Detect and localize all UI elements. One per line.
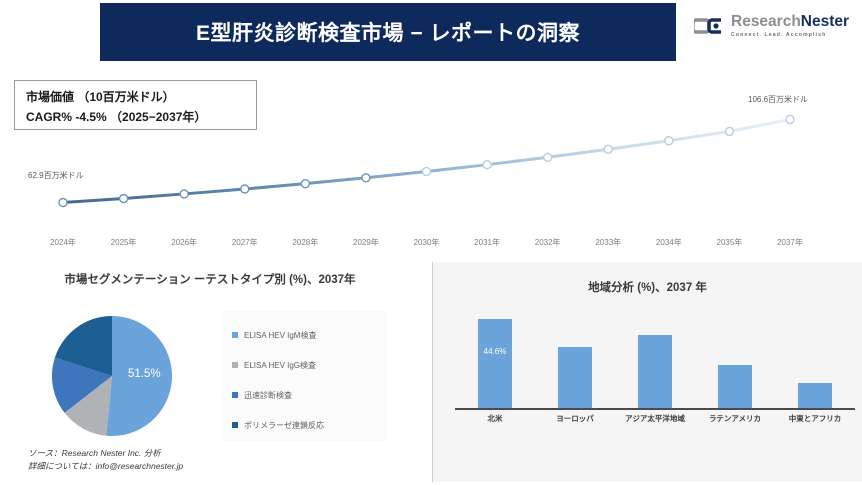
pie-chart-svg: [38, 312, 186, 440]
bar-x-axis-tick-label: アジア太平洋地域: [625, 413, 685, 424]
bar-column: [558, 308, 592, 408]
x-axis-tick-label: 2024年: [50, 237, 76, 248]
legend-item-label: ELISA HEV IgG検査: [244, 360, 316, 371]
line-data-point: [180, 190, 188, 198]
legend-item-label: ELISA HEV IgM検査: [244, 330, 316, 341]
legend-item-label: 迅速診断検査: [244, 390, 292, 401]
legend-item: ポリメラーゼ連鎖反応: [232, 410, 387, 440]
bar-rect: 44.6%: [478, 319, 512, 408]
infographic-page: E型肝炎診断検査市場 − レポートの洞察 ResearchNester Conn…: [0, 0, 862, 485]
x-axis-tick-label: 2025年: [111, 237, 137, 248]
line-data-point: [786, 115, 794, 123]
legend-swatch-icon: [232, 362, 238, 368]
brand-logo: ResearchNester Connect. Lead. Accomplish: [694, 14, 849, 38]
x-axis-tick-label: 2030年: [414, 237, 440, 248]
bar-rect: [718, 365, 752, 408]
legend-item: ELISA HEV IgM検査: [232, 320, 387, 350]
bar-column: [718, 308, 752, 408]
x-axis-tick-label: 2037年: [777, 237, 803, 248]
bar-x-axis-tick-label: 中東とアフリカ: [789, 413, 842, 424]
bar-rect: [798, 383, 832, 408]
x-axis-tick-label: 2034年: [656, 237, 682, 248]
bar-rect: [558, 347, 592, 408]
header-banner: E型肝炎診断検査市場 − レポートの洞察: [100, 3, 676, 61]
legend-item: ELISA HEV IgG検査: [232, 350, 387, 380]
line-data-point: [604, 145, 612, 153]
pie-chart-area: 51.5% ELISA HEV IgM検査ELISA HEV IgG検査迅速診断…: [0, 310, 420, 440]
x-axis-tick-label: 2033年: [595, 237, 621, 248]
pie-chart-title: 市場セグメンテーション ーテストタイプ別 (%)、2037年: [0, 262, 420, 289]
x-axis-tick-label: 2029年: [353, 237, 379, 248]
line-data-point: [59, 198, 67, 206]
logo-wordmark: ResearchNester: [731, 14, 849, 30]
pie-primary-value-label: 51.5%: [128, 368, 161, 380]
bar-column: 44.6%: [478, 308, 512, 408]
pie-chart-legend: ELISA HEV IgM検査ELISA HEV IgG検査迅速診断検査ポリメラ…: [222, 310, 387, 442]
logo-nester-word: Nester: [801, 13, 849, 30]
bar-column: [638, 308, 672, 408]
line-chart-x-axis: 2024年2025年2026年2027年2028年2029年2030年2031年…: [0, 237, 862, 255]
line-data-point: [241, 185, 249, 193]
bar-x-axis-tick-label: ヨーロッパ: [556, 413, 594, 424]
x-axis-tick-label: 2026年: [171, 237, 197, 248]
legend-item: 迅速診断検査: [232, 380, 387, 410]
logo-tagline: Connect. Lead. Accomplish: [731, 33, 849, 38]
line-start-value-label: 62.9百万米ドル: [28, 170, 84, 181]
x-axis-tick-label: 2027年: [232, 237, 258, 248]
x-axis-tick-label: 2028年: [292, 237, 318, 248]
legend-swatch-icon: [232, 392, 238, 398]
x-axis-tick-label: 2032年: [535, 237, 561, 248]
bar-x-axis-tick-label: 北米: [488, 413, 503, 424]
regional-analysis-panel: 地域分析 (%)、2037 年 44.6% 北米ヨーロッパアジア太平洋地域ラテン…: [432, 262, 862, 482]
line-data-point: [362, 174, 370, 182]
page-title: E型肝炎診断検査市場 − レポートの洞察: [196, 17, 580, 47]
line-data-point: [483, 161, 491, 169]
line-data-point: [725, 127, 733, 135]
chain-link-logo-icon: [694, 15, 724, 37]
contact-line: 詳細については：info@researchnester.jp: [28, 460, 183, 473]
legend-swatch-icon: [232, 422, 238, 428]
bar-x-axis-tick-label: ラテンアメリカ: [709, 413, 761, 424]
line-chart-svg: [0, 85, 862, 235]
line-data-point: [423, 168, 431, 176]
logo-text: ResearchNester Connect. Lead. Accomplish: [731, 14, 849, 38]
line-data-point: [301, 180, 309, 188]
market-value-line-chart: 62.9百万米ドル 106.6百万米ドル: [0, 85, 862, 235]
bar-chart-baseline: [455, 408, 855, 410]
bar-rect: [638, 335, 672, 408]
line-data-point: [665, 137, 673, 145]
x-axis-tick-label: 2035年: [717, 237, 743, 248]
bar-chart-title: 地域分析 (%)、2037 年: [433, 262, 862, 297]
x-axis-tick-label: 2031年: [474, 237, 500, 248]
line-data-point: [544, 153, 552, 161]
source-footer: ソース：Research Nester Inc. 分析 詳細については：info…: [28, 447, 183, 473]
line-data-point: [120, 195, 128, 203]
source-line: ソース：Research Nester Inc. 分析: [28, 447, 183, 460]
logo-research-word: Research: [731, 13, 801, 30]
bar-column: [798, 308, 832, 408]
bar-chart-plot: 44.6%: [455, 308, 855, 408]
legend-swatch-icon: [232, 332, 238, 338]
bar-value-label: 44.6%: [478, 347, 512, 356]
legend-item-label: ポリメラーゼ連鎖反応: [244, 420, 324, 431]
bar-chart-area: 44.6% 北米ヨーロッパアジア太平洋地域ラテンアメリカ中東とアフリカ: [455, 308, 855, 428]
line-end-value-label: 106.6百万米ドル: [748, 94, 808, 105]
